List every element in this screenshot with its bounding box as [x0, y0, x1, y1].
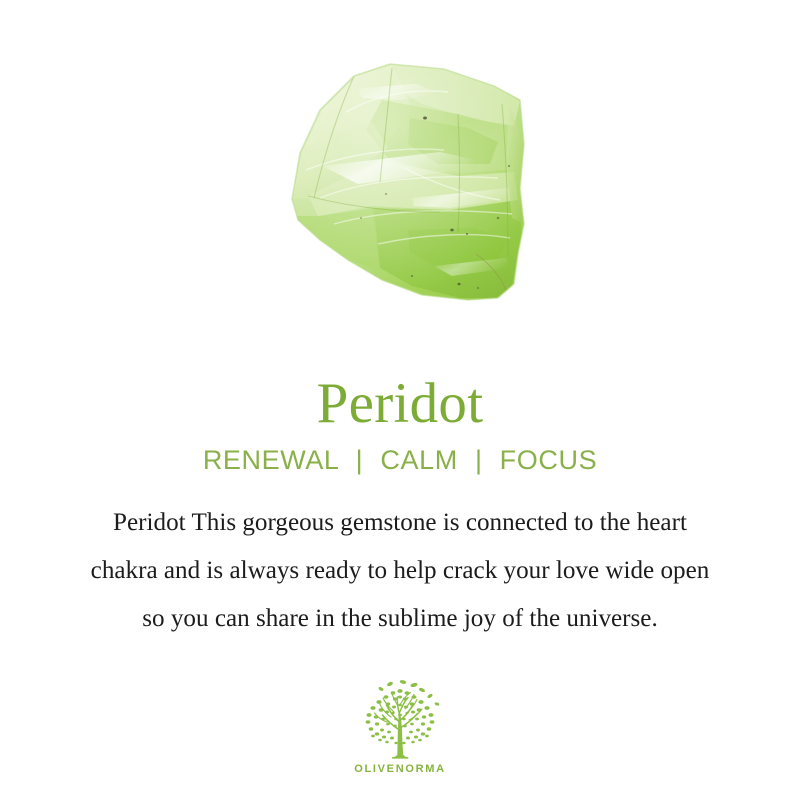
gemstone-info-card: Peridot RENEWAL | CALM | FOCUS Peridot T… [0, 0, 800, 800]
description-text: Peridot This gorgeous gemstone is connec… [14, 498, 786, 642]
brand-footer: OLIVENORMA [0, 678, 800, 775]
page-title: Peridot [0, 372, 800, 436]
brand-name: OLIVENORMA [0, 763, 800, 775]
keyword-list: RENEWAL | CALM | FOCUS [0, 443, 800, 477]
gemstone-figure [0, 0, 800, 320]
keyword-separator: | [347, 443, 373, 477]
keyword-calm: CALM [380, 445, 457, 475]
olive-tree-icon [351, 678, 449, 762]
description-line: so you can share in the sublime joy of t… [20, 594, 780, 642]
raw-peridot-crystal-photo [262, 48, 548, 316]
description-line: chakra and is always ready to help crack… [20, 546, 780, 594]
description-line: Peridot This gorgeous gemstone is connec… [20, 498, 780, 546]
keyword-separator: | [466, 443, 492, 477]
keyword-focus: FOCUS [500, 445, 598, 475]
keyword-renewal: RENEWAL [203, 445, 339, 475]
